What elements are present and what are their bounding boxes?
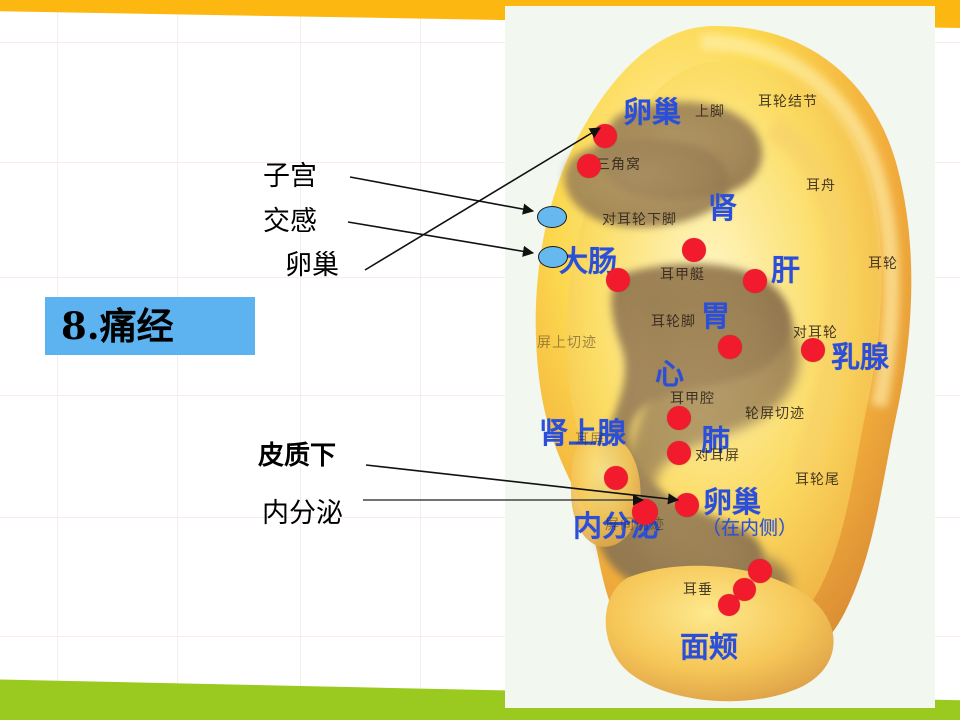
- page-title: 8.痛经: [61, 308, 174, 345]
- acupoint-marker: [593, 124, 617, 148]
- acupoint-marker: [604, 466, 628, 490]
- acupoint-marker: [682, 238, 706, 262]
- acupoint-marker: [667, 441, 691, 465]
- ear-sublabel-sanjiaowo: 三角窝: [596, 158, 641, 172]
- acupoint-marker: [743, 269, 767, 293]
- ear-label-xin: 心: [655, 360, 684, 389]
- ear-label-ruxian: 乳腺: [831, 343, 889, 372]
- acupoint-marker: [718, 335, 742, 359]
- ear-sublabel-shangjiao: 上脚: [695, 105, 725, 119]
- ear-sublabel-duierlunxiajiao: 对耳轮下脚: [602, 213, 677, 227]
- acupoint-marker: [577, 154, 601, 178]
- grid-line-vertical: [177, 0, 178, 720]
- ear-sublabel-erlunwei: 耳轮尾: [795, 473, 840, 487]
- ear-sublabel-erjiating: 耳甲艇: [660, 268, 705, 282]
- slide-title-chip: 8.痛经: [45, 297, 255, 355]
- ear-sublabel-erzhou: 耳舟: [806, 179, 836, 193]
- ear-label-luanchao-top: 卵巢: [623, 98, 681, 127]
- callout-label-zigong: 子宫: [263, 163, 317, 190]
- acupoint-marker: [733, 578, 756, 601]
- slide-canvas: 8.痛经 子宫 交感 卵巢 皮质下 内分泌: [0, 0, 960, 720]
- grid-line-vertical: [420, 0, 421, 720]
- acupoint-marker: [675, 493, 699, 517]
- acupoint-marker: [667, 406, 691, 430]
- callout-label-neifenmi: 内分泌: [262, 500, 343, 527]
- ear-sublabel-erjiaqiang: 耳甲腔: [670, 392, 715, 406]
- ear-label-gan: 肝: [771, 256, 800, 285]
- ear-sublabel-erchui: 耳垂: [683, 583, 713, 597]
- ear-acupoint-chart: 卵巢 大肠 肾 肝 胃 乳腺 心 肾上腺 肺 卵巢 （在内侧） 内分泌 面颊 上…: [505, 6, 935, 708]
- callout-label-jiaogan: 交感: [263, 208, 317, 235]
- acupoint-marker: [606, 268, 630, 292]
- highlighted-acupoint-jiaogan: [538, 246, 568, 268]
- ear-sublabel-erlunjiao: 耳轮脚: [651, 315, 696, 329]
- callout-label-pizhixia: 皮质下: [258, 443, 336, 469]
- ear-sublabel-lunpingqieji: 轮屏切迹: [745, 407, 805, 421]
- ear-sublabel-pingshangqieji: 屏上切迹: [537, 336, 597, 350]
- ear-label-shen: 肾: [708, 194, 737, 223]
- ear-label-wei: 胃: [701, 302, 730, 331]
- ear-sublabel-erping: 耳屏: [575, 433, 605, 447]
- ear-label-luanchao-note: （在内侧）: [702, 519, 797, 538]
- ear-label-mianjia: 面颊: [680, 633, 738, 662]
- ear-sublabel-erlunjiejie: 耳轮结节: [758, 95, 818, 109]
- highlighted-acupoint-zigong: [537, 206, 567, 228]
- grid-line-vertical: [57, 0, 58, 720]
- grid-line-vertical: [300, 0, 301, 720]
- acupoint-marker: [632, 499, 658, 525]
- ear-sublabel-duierping: 对耳屏: [695, 449, 740, 463]
- acupoint-marker: [748, 559, 772, 583]
- acupoint-marker: [801, 338, 825, 362]
- ear-sublabel-erlun: 耳轮: [868, 257, 898, 271]
- ear-label-luanchao-bottom: 卵巢: [703, 488, 761, 517]
- callout-label-luanchao: 卵巢: [285, 252, 339, 279]
